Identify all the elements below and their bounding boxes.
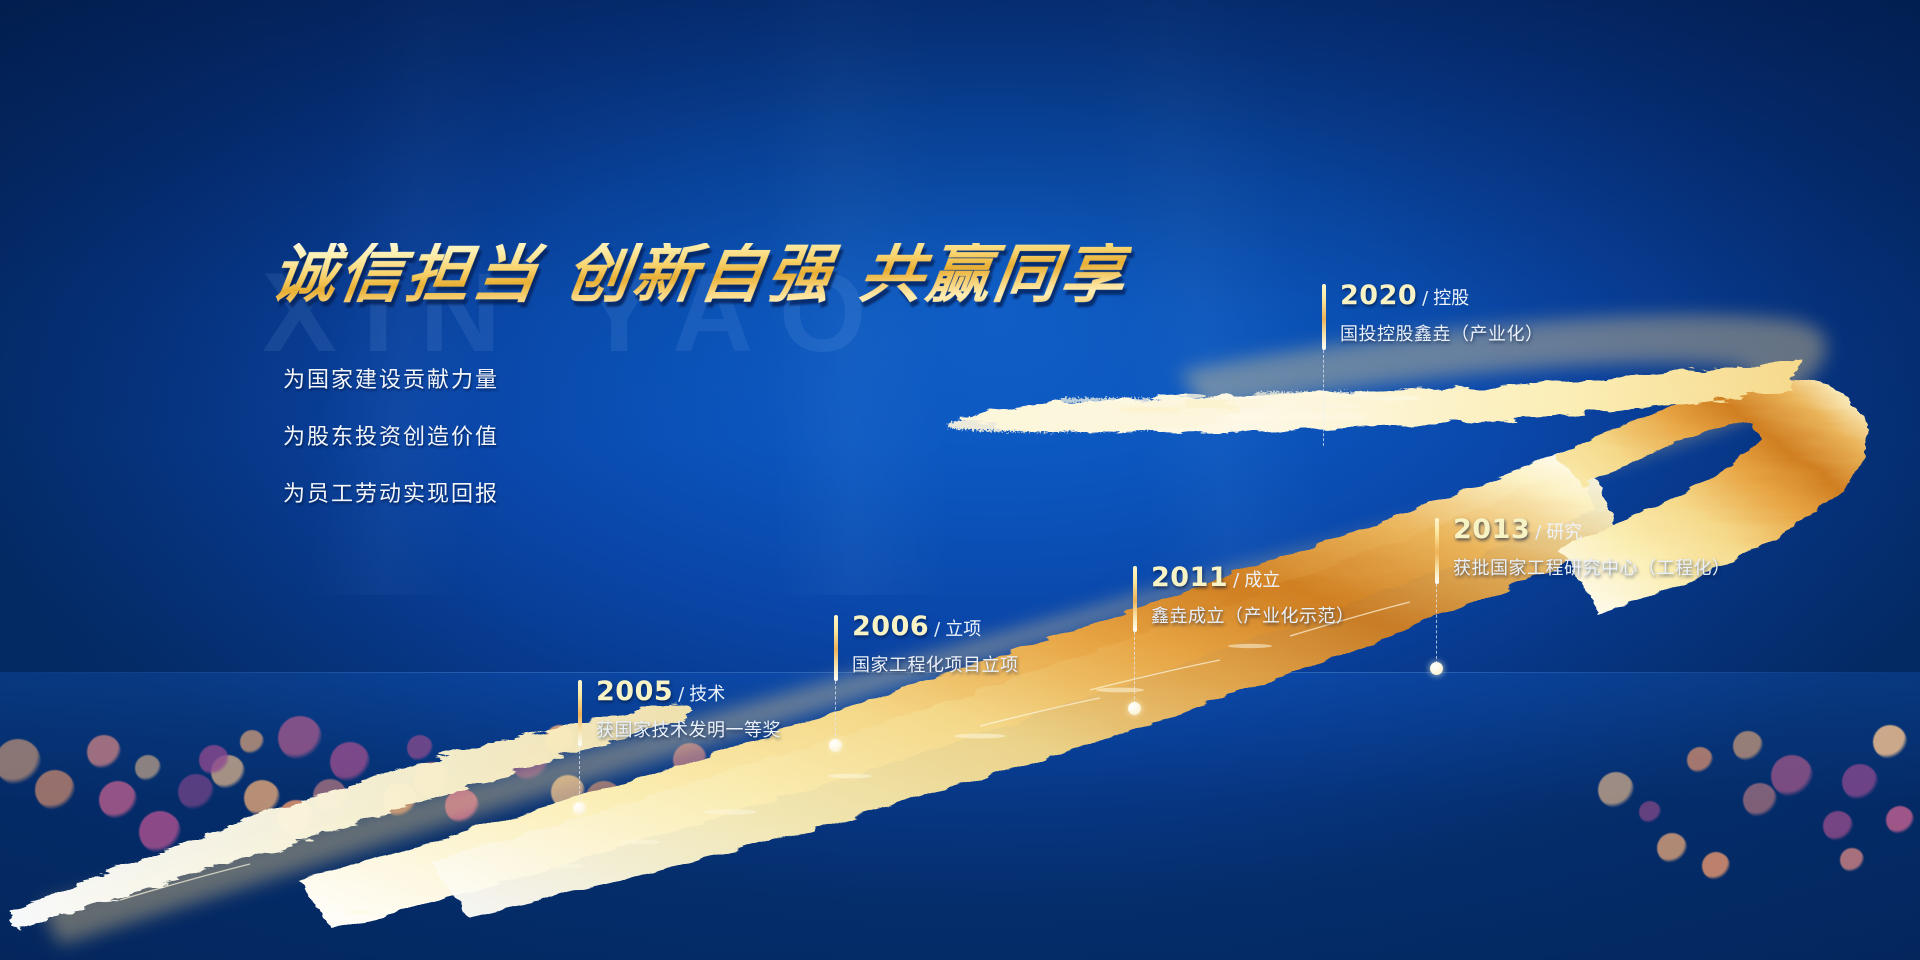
- milestone-accent-bar: [1133, 566, 1137, 632]
- headline-part-3: 共赢同享: [855, 238, 1133, 312]
- bokeh-light: [673, 743, 707, 777]
- bokeh-light: [244, 780, 280, 816]
- bokeh-light: [383, 783, 417, 817]
- headline-part-2: 创新自强: [561, 238, 839, 312]
- bokeh-light: [1873, 725, 1907, 759]
- milestone-year-row: 2005/技术: [596, 676, 725, 707]
- bokeh-light: [1657, 833, 1687, 863]
- milestone-description: 获国家技术发明一等奖: [596, 716, 781, 742]
- bokeh-light: [313, 779, 347, 813]
- milestone-separator: /: [1233, 570, 1239, 591]
- milestone-dot: [829, 739, 842, 752]
- bokeh-light: [87, 735, 121, 769]
- milestone-leader-line: [835, 681, 836, 741]
- bokeh-light: [178, 774, 214, 810]
- milestone-accent-bar: [834, 615, 838, 681]
- milestone-accent-bar: [1435, 518, 1439, 584]
- bokeh-light: [1840, 848, 1864, 872]
- milestone-separator: /: [1535, 522, 1541, 543]
- milestone-separator: /: [934, 619, 940, 640]
- bokeh-light: [1743, 783, 1777, 817]
- bokeh-light: [830, 756, 862, 788]
- milestone-separator: /: [1422, 288, 1428, 309]
- subtitle-line-3: 为员工劳动实现回报: [283, 476, 499, 508]
- bokeh-light: [278, 800, 314, 836]
- headline-part-1: 诚信担当: [267, 238, 545, 312]
- bokeh-light: [585, 781, 623, 819]
- bokeh-light: [1687, 747, 1713, 773]
- bokeh-light: [35, 770, 75, 810]
- banner-stage: XIN YAO 诚信担当创新自强共赢同享 为国家建设贡献力量 为股东投资创造价值…: [0, 0, 1920, 960]
- bokeh-light: [330, 742, 370, 782]
- milestone-leader-line: [1323, 350, 1324, 446]
- bokeh-light: [278, 716, 322, 760]
- milestone-tag: 研究: [1546, 522, 1582, 543]
- bokeh-light: [1733, 731, 1763, 761]
- milestone-accent-bar: [1322, 284, 1326, 350]
- bokeh-light: [445, 789, 479, 823]
- milestone-year-row: 2013/研究: [1453, 514, 1582, 545]
- milestone-year-row: 2006/立项: [852, 611, 981, 642]
- bokeh-light: [240, 730, 264, 754]
- bokeh-light: [511, 743, 549, 781]
- bokeh-light: [199, 745, 229, 775]
- milestone-tag: 立项: [945, 619, 981, 640]
- bokeh-light: [139, 811, 181, 853]
- subtitle-line-1: 为国家建设贡献力量: [283, 362, 499, 394]
- milestone-description: 国家工程化项目立项: [852, 651, 1019, 677]
- milestone-description: 国投控股鑫垚（产业化）: [1340, 320, 1544, 346]
- milestone-tag: 控股: [1433, 288, 1469, 309]
- milestone-year: 2006: [852, 611, 929, 642]
- bokeh-light: [99, 781, 137, 819]
- milestone-year: 2005: [596, 676, 673, 707]
- bokeh-light: [786, 728, 826, 768]
- milestone-year-row: 2020/控股: [1340, 280, 1469, 311]
- bokeh-light: [1771, 755, 1813, 797]
- bokeh-light: [1842, 764, 1878, 800]
- page-title: 诚信担当创新自强共赢同享: [268, 243, 1133, 307]
- bokeh-light: [1702, 852, 1730, 880]
- milestone-leader-line: [1436, 584, 1437, 664]
- milestone-year: 2011: [1151, 562, 1228, 593]
- bokeh-light: [1886, 806, 1914, 834]
- milestone-tag: 技术: [689, 684, 725, 705]
- milestone-dot: [1430, 662, 1443, 675]
- milestone-year: 2020: [1340, 280, 1417, 311]
- bokeh-light: [545, 725, 575, 755]
- milestone-leader-line: [1134, 632, 1135, 704]
- bokeh-light: [1598, 772, 1634, 808]
- bokeh-light: [1823, 811, 1853, 841]
- bokeh-light: [135, 755, 161, 781]
- milestone-dot: [573, 802, 586, 815]
- milestone-dot: [1128, 702, 1141, 715]
- milestone-description: 鑫垚成立（产业化示范）: [1151, 602, 1355, 628]
- milestone-year: 2013: [1453, 514, 1530, 545]
- milestone-leader-line: [579, 746, 580, 804]
- bokeh-light: [1639, 801, 1661, 823]
- subtitle-line-2: 为股东投资创造价值: [283, 419, 499, 451]
- milestone-tag: 成立: [1244, 570, 1280, 591]
- milestone-accent-bar: [578, 680, 582, 746]
- bokeh-light: [414, 762, 450, 798]
- milestone-separator: /: [678, 684, 684, 705]
- milestone-year-row: 2011/成立: [1151, 562, 1280, 593]
- bokeh-light: [407, 735, 433, 761]
- bokeh-light: [711, 771, 741, 801]
- milestone-description: 获批国家工程研究中心（工程化）: [1453, 554, 1731, 580]
